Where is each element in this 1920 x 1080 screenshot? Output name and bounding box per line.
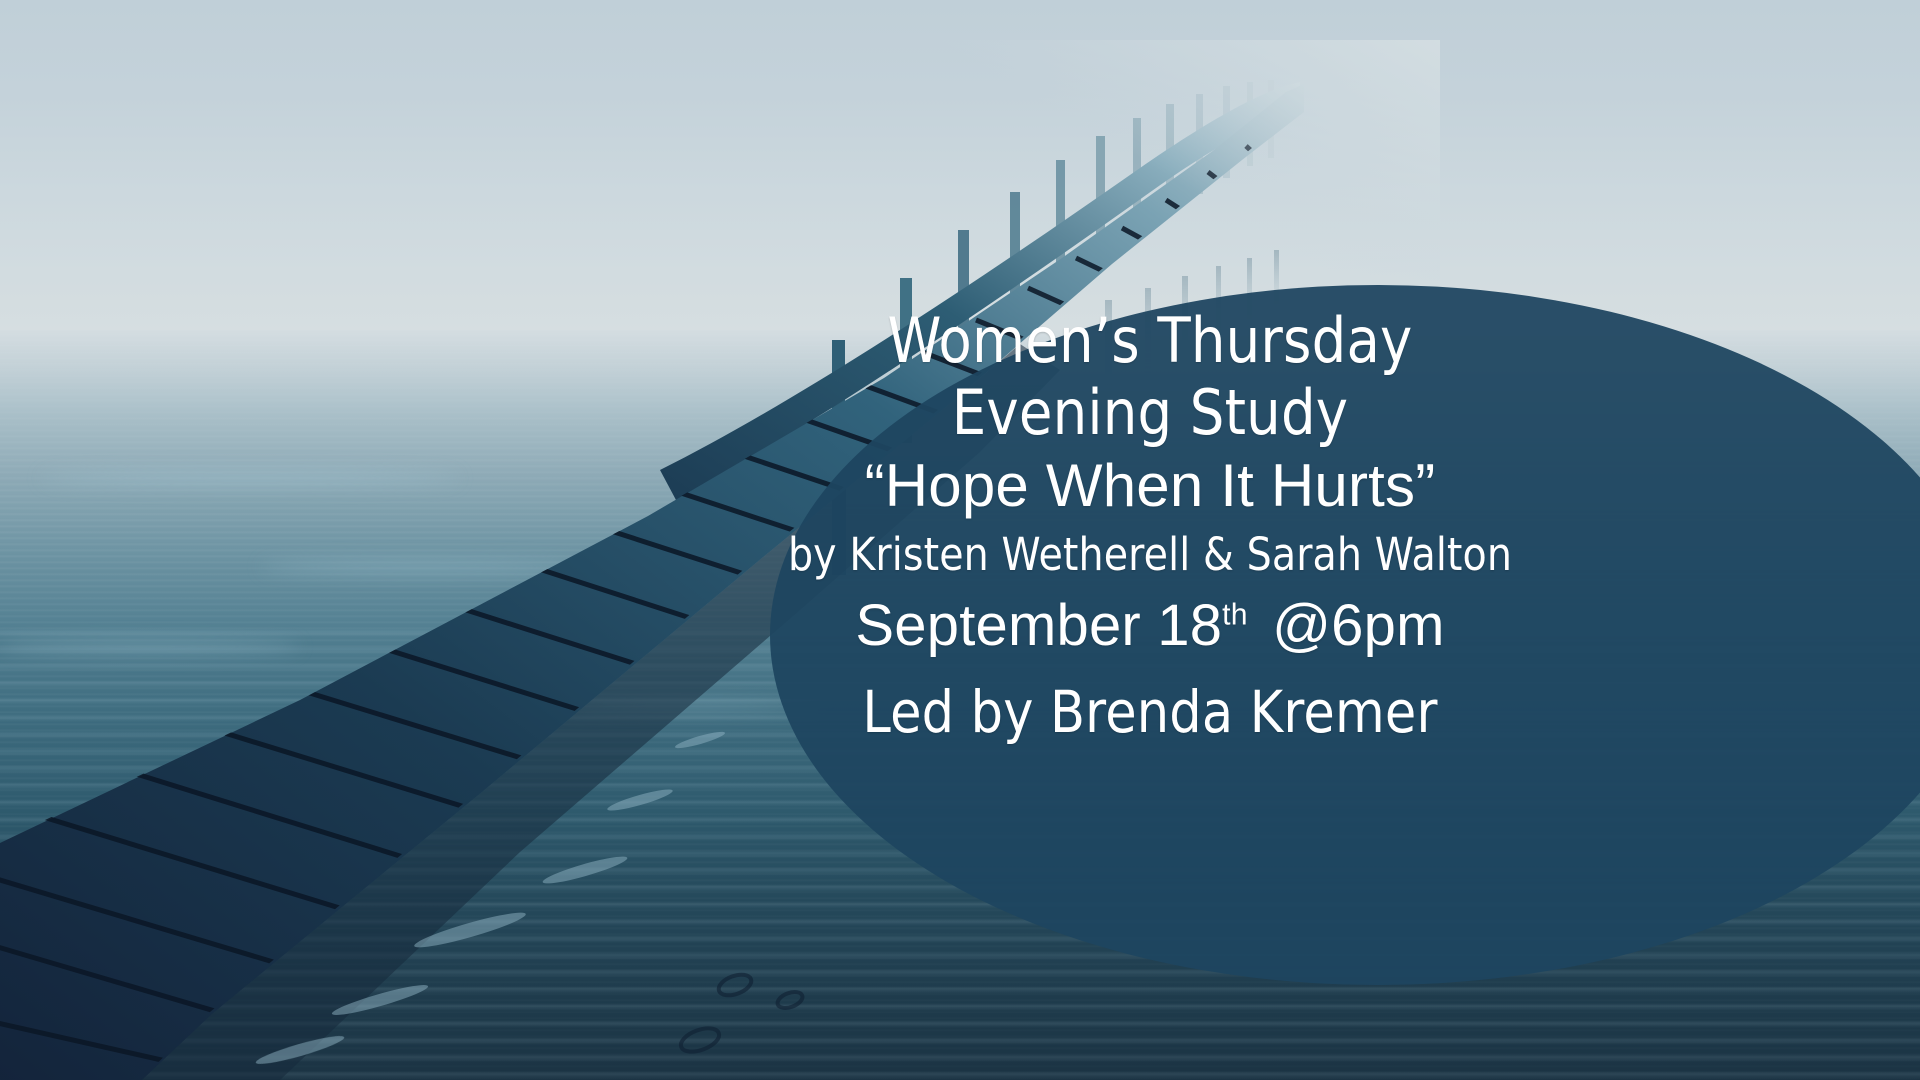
announcement-text-block: Women’s Thursday Evening Study “Hope Whe…	[680, 288, 1620, 741]
study-title-line-1: Women’s Thursday	[736, 310, 1563, 372]
event-date-line: September 18th@6pm	[680, 597, 1620, 655]
event-leader: Led by Brenda Kremer	[736, 683, 1563, 741]
event-date: September 18	[855, 593, 1222, 658]
announcement-slide: Women’s Thursday Evening Study “Hope Whe…	[0, 0, 1920, 1080]
study-title-line-2: Evening Study	[736, 382, 1563, 444]
book-authors: by Kristen Wetherell & Sarah Walton	[736, 532, 1563, 577]
book-title: “Hope When It Hurts”	[680, 456, 1620, 516]
event-time: @6pm	[1272, 593, 1445, 658]
water-dark-loops	[678, 971, 805, 1057]
date-ordinal-suffix: th	[1222, 599, 1248, 632]
